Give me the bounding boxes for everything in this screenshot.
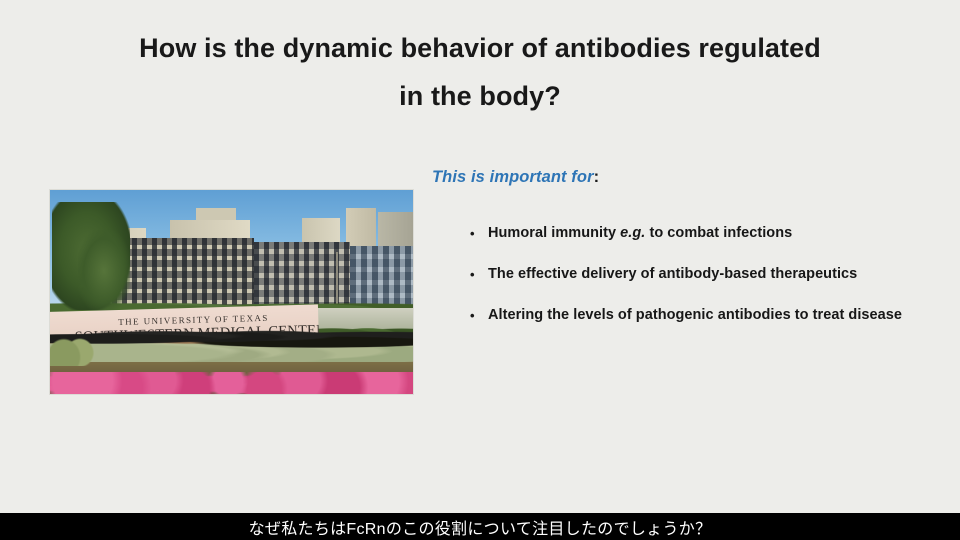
list-item: Humoral immunity e.g. to combat infectio… — [432, 213, 920, 254]
page-title: How is the dynamic behavior of antibodie… — [0, 24, 960, 120]
title-line-2: in the body? — [0, 72, 960, 120]
lead-heading-colon: : — [594, 168, 600, 186]
black-planters — [50, 330, 413, 352]
lead-heading-text: This is important for — [432, 168, 594, 186]
subtitle-bar: なぜ私たちはFcRnのこの役割について注目したのでしょうか？ — [0, 513, 960, 540]
bullet-text-pre: Humoral immunity — [488, 225, 620, 241]
list-item: The effective delivery of antibody-based… — [432, 254, 920, 295]
content-text-block: This is important for: Humoral immunity … — [432, 168, 920, 336]
foreground-grass-left — [50, 322, 96, 366]
bullet-text-emphasis: e.g. — [620, 225, 645, 241]
slide-canvas: How is the dynamic behavior of antibodie… — [0, 0, 960, 540]
title-line-1: How is the dynamic behavior of antibodie… — [0, 24, 960, 72]
lead-heading: This is important for: — [432, 168, 920, 187]
bullet-text-post: to combat infections — [645, 225, 792, 241]
pink-flower-bed-front — [50, 372, 413, 394]
foreground-tree-lower — [78, 230, 130, 312]
list-item: Altering the levels of pathogenic antibo… — [432, 295, 920, 336]
subtitle-text: なぜ私たちはFcRnのこの役割について注目したのでしょうか？ — [249, 515, 712, 539]
ut-southwestern-medical-center-photo: THE UNIVERSITY OF TEXAS SOUTHWESTERN MED… — [50, 190, 413, 394]
bullet-list: Humoral immunity e.g. to combat infectio… — [432, 213, 920, 336]
bullet-text-pre: Altering the levels of pathogenic antibo… — [488, 307, 902, 323]
bullet-text-pre: The effective delivery of antibody-based… — [488, 266, 857, 282]
